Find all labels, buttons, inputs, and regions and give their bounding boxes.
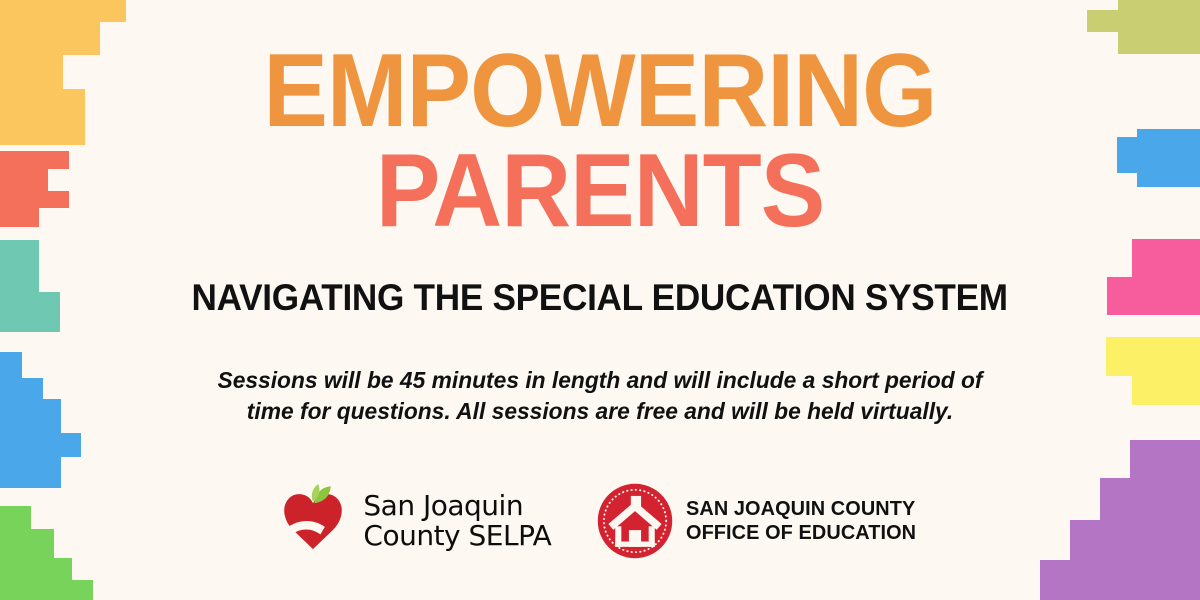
teal-block <box>0 240 39 292</box>
sjcoe-wordmark: SAN JOAQUIN COUNTY OFFICE OF EDUCATION <box>686 497 916 545</box>
selpa-wordmark-line-1: San Joaquin <box>363 491 551 522</box>
selpa-wordmark-line-2: County SELPA <box>363 521 551 552</box>
poster-canvas: EMPOWERING PARENTS NAVIGATING THE SPECIA… <box>0 0 1200 600</box>
green-block <box>0 558 72 580</box>
coral-block <box>0 191 69 208</box>
yellow-block-right <box>1106 337 1200 376</box>
coral-block <box>0 208 39 227</box>
poster-title-line-1: EMPOWERING <box>263 44 936 140</box>
purple-block <box>1070 520 1200 560</box>
olive-block <box>1118 0 1200 10</box>
yellow-block <box>0 89 85 145</box>
blue-block <box>0 433 81 457</box>
pink-block <box>1132 239 1200 277</box>
blue-block <box>0 352 22 378</box>
logo-row: San Joaquin County SELPA <box>276 483 923 559</box>
yellow-block-right <box>1132 376 1200 405</box>
pink-block <box>1107 277 1200 315</box>
coral-block <box>0 169 48 191</box>
olive-block <box>1118 32 1200 54</box>
sjcoe-logo: SAN JOAQUIN COUNTY OFFICE OF EDUCATION <box>597 483 923 559</box>
schoolhouse-circle-icon <box>597 483 673 559</box>
apple-heart-icon <box>276 484 350 558</box>
purple-block <box>1100 478 1200 520</box>
blue-block <box>0 399 61 433</box>
olive-block <box>1087 10 1200 32</box>
green-block <box>0 529 54 558</box>
poster-title-line-2: PARENTS <box>376 144 824 240</box>
blue-block-right <box>1137 147 1200 187</box>
selpa-wordmark: San Joaquin County SELPA <box>363 491 551 553</box>
selpa-logo: San Joaquin County SELPA <box>276 484 551 558</box>
blue-block <box>0 378 43 399</box>
green-block <box>0 580 93 600</box>
purple-block <box>1130 440 1200 478</box>
yellow-block <box>0 22 100 55</box>
poster-content: EMPOWERING PARENTS NAVIGATING THE SPECIA… <box>150 0 1050 600</box>
yellow-block <box>0 55 63 89</box>
yellow-block <box>0 0 126 22</box>
teal-block <box>0 292 60 332</box>
coral-block <box>0 151 69 169</box>
sjcoe-wordmark-line-2: OFFICE OF EDUCATION <box>686 521 916 545</box>
purple-block <box>1040 560 1200 600</box>
poster-description: Sessions will be 45 minutes in length an… <box>217 365 983 427</box>
blue-block <box>0 457 61 488</box>
green-block <box>0 506 31 529</box>
poster-subtitle: NAVIGATING THE SPECIAL EDUCATION SYSTEM <box>192 277 1008 319</box>
sjcoe-wordmark-line-1: SAN JOAQUIN COUNTY <box>686 497 916 521</box>
